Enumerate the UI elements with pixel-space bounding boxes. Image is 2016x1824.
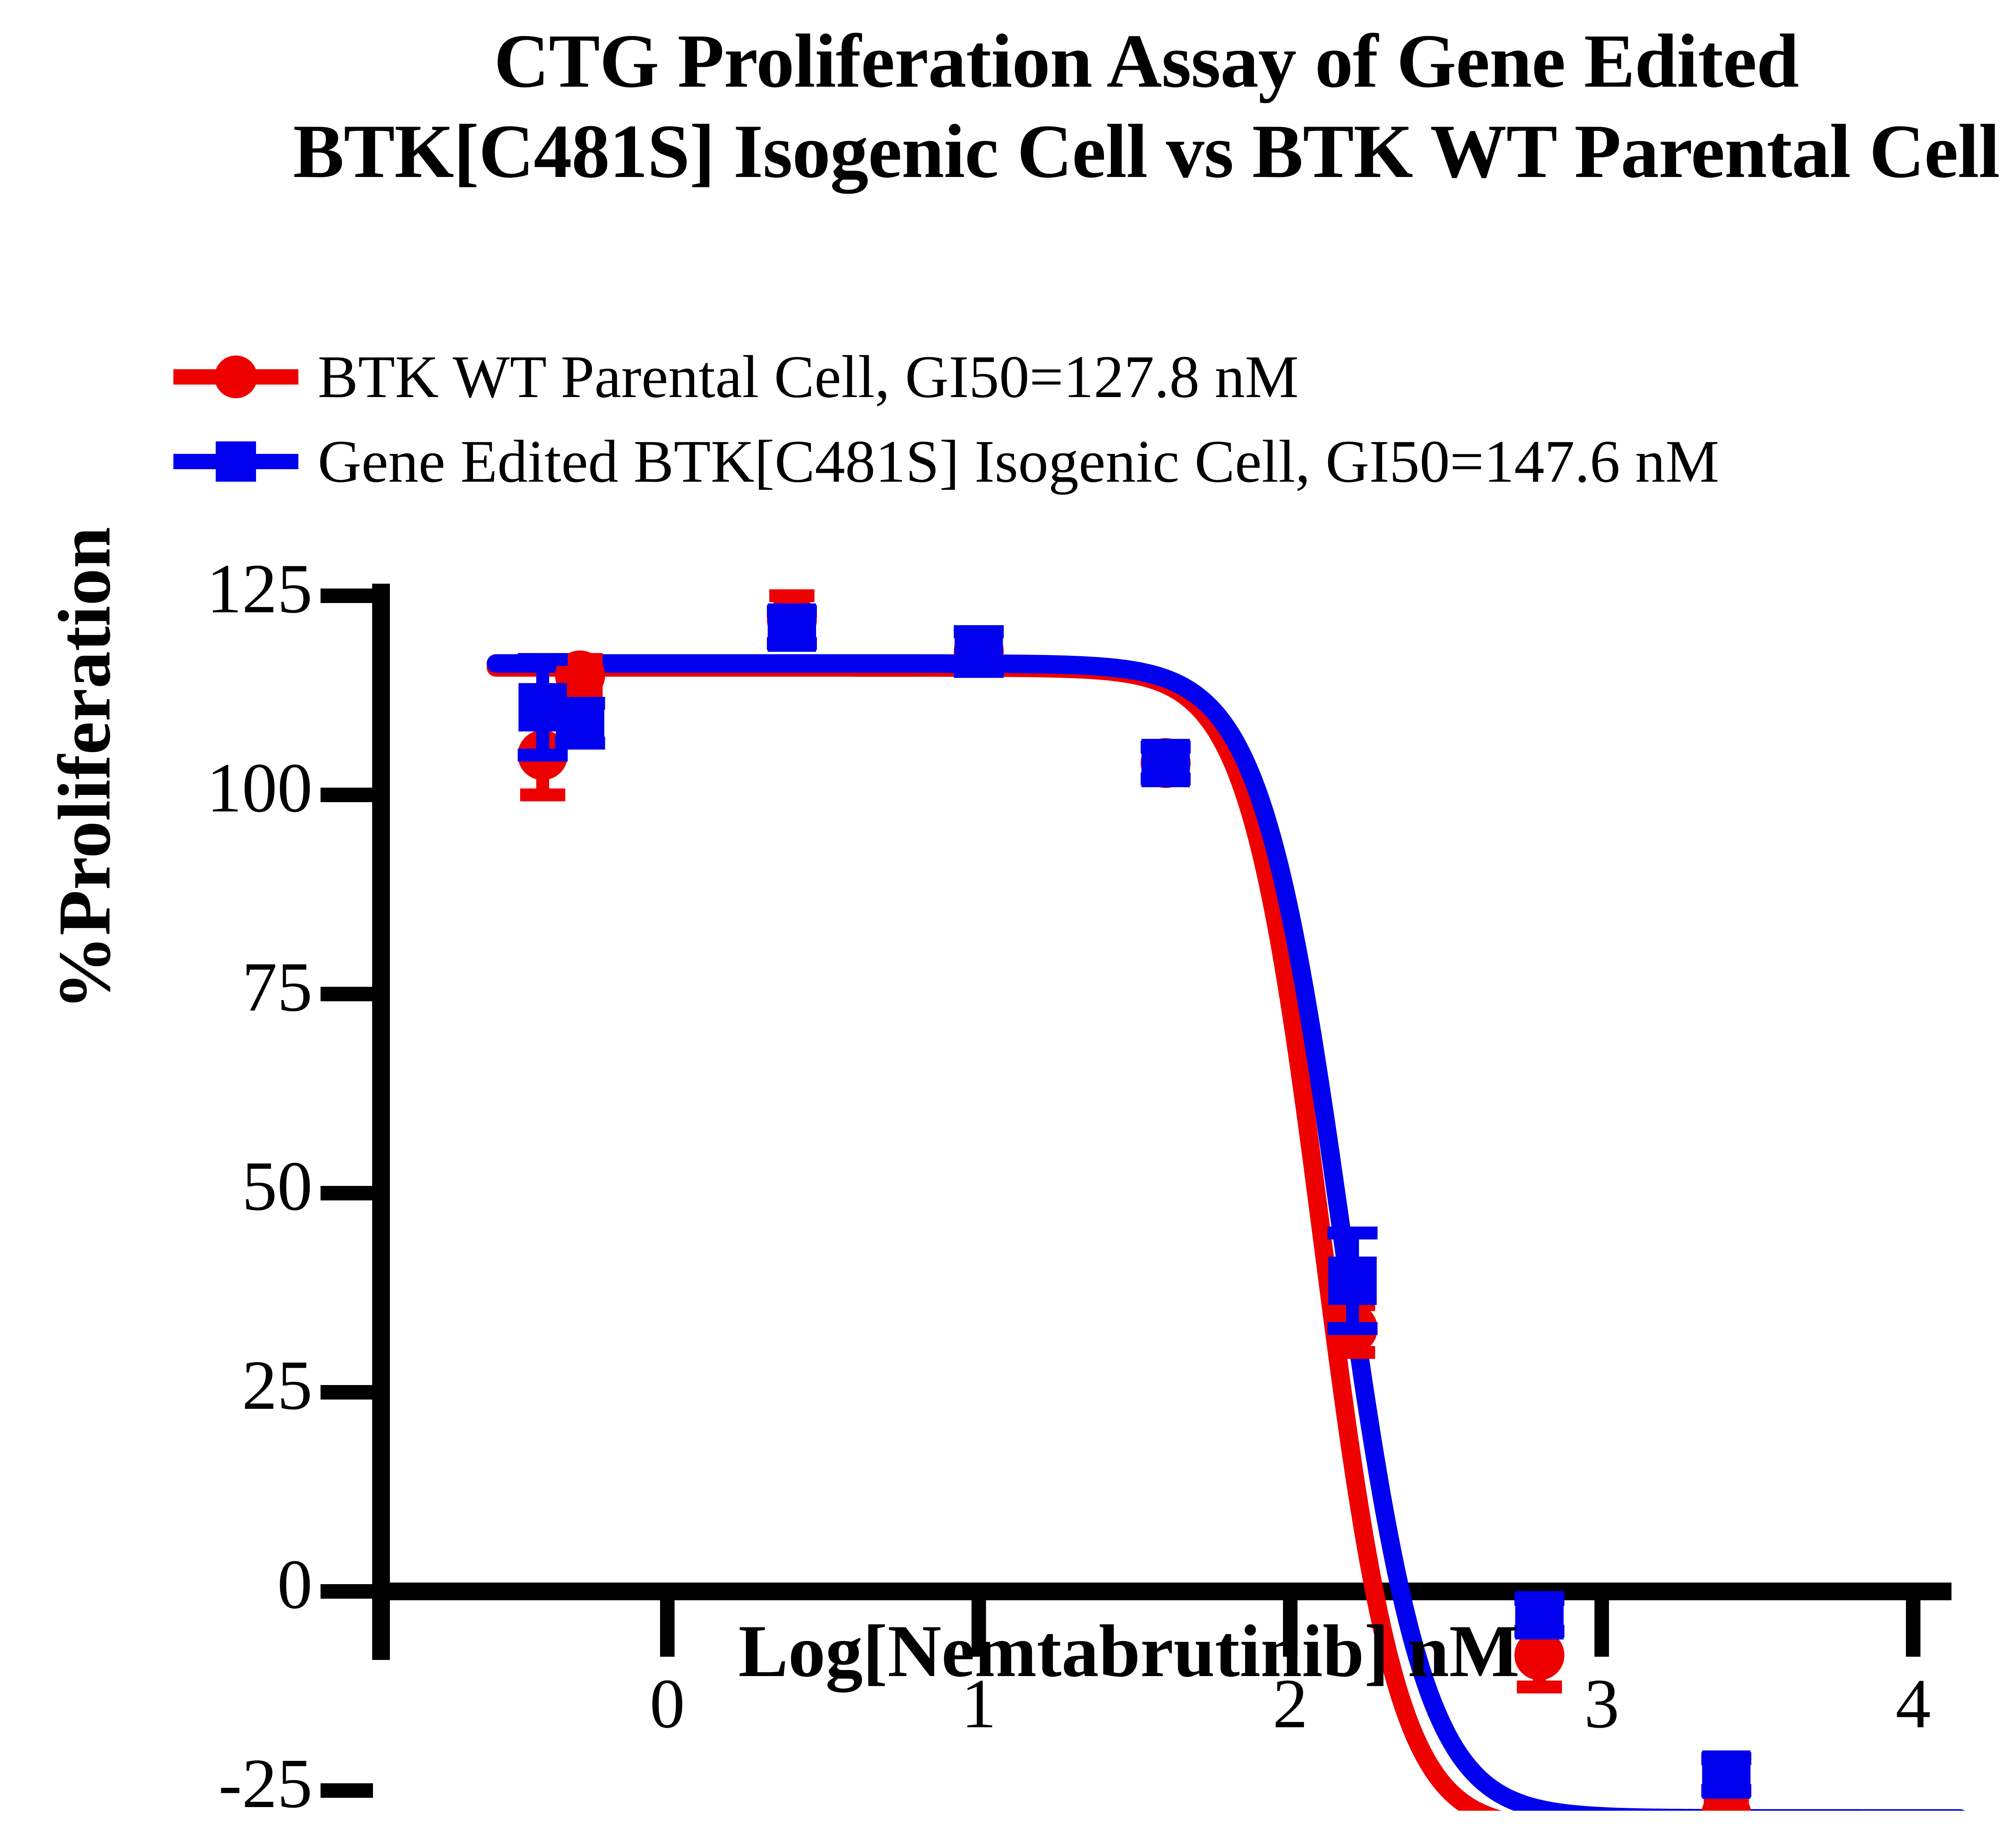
- y-tick-label: 75: [143, 946, 312, 1027]
- y-tick: [321, 1186, 373, 1200]
- y-tick: [321, 788, 373, 802]
- x-axis-label: Log[Nemtabrutinib] nM: [621, 1608, 1637, 1694]
- x-tick-label: 0: [607, 1663, 728, 1744]
- y-tick-label: 125: [143, 548, 312, 629]
- y-tick-label: 100: [143, 747, 312, 828]
- x-axis-line: [372, 1583, 1951, 1600]
- data-point-square[interactable]: [556, 699, 604, 747]
- x-tick-label: 2: [1230, 1663, 1351, 1744]
- y-tick-label: 50: [143, 1146, 312, 1227]
- x-tick-label: 3: [1541, 1663, 1662, 1744]
- x-tick: [1906, 1600, 1920, 1657]
- y-tick: [321, 987, 373, 1001]
- data-point-square[interactable]: [768, 603, 816, 652]
- plot-svg: [0, 0, 2016, 1811]
- x-tick-label: 4: [1853, 1663, 1974, 1744]
- error-cap-top: [1328, 1227, 1378, 1240]
- error-cap-bottom: [1328, 1322, 1378, 1335]
- x-tick-label: 1: [918, 1663, 1039, 1744]
- y-axis-label: %Proliferation: [42, 426, 128, 1111]
- y-tick: [321, 1584, 373, 1599]
- data-point-square[interactable]: [1329, 1256, 1377, 1305]
- error-cap-bottom: [518, 749, 568, 761]
- plot-area: %Proliferation Log[Nemtabrutinib] nM 125…: [0, 0, 2016, 1811]
- y-tick-label: -25: [143, 1743, 312, 1824]
- figure-root: CTG Proliferation Assay of Gene Edited B…: [0, 0, 2016, 1811]
- y-tick: [321, 1385, 373, 1400]
- y-tick: [321, 589, 373, 603]
- y-tick-label: 25: [143, 1345, 312, 1426]
- y-tick-label: 0: [143, 1544, 312, 1625]
- error-cap-bottom: [520, 788, 565, 801]
- data-point-square[interactable]: [955, 627, 1003, 676]
- error-cap-top: [518, 653, 568, 666]
- y-axis-line: [372, 584, 390, 1660]
- data-point-square[interactable]: [1702, 1750, 1751, 1799]
- data-point-square[interactable]: [1141, 739, 1190, 787]
- y-tick: [321, 1783, 373, 1798]
